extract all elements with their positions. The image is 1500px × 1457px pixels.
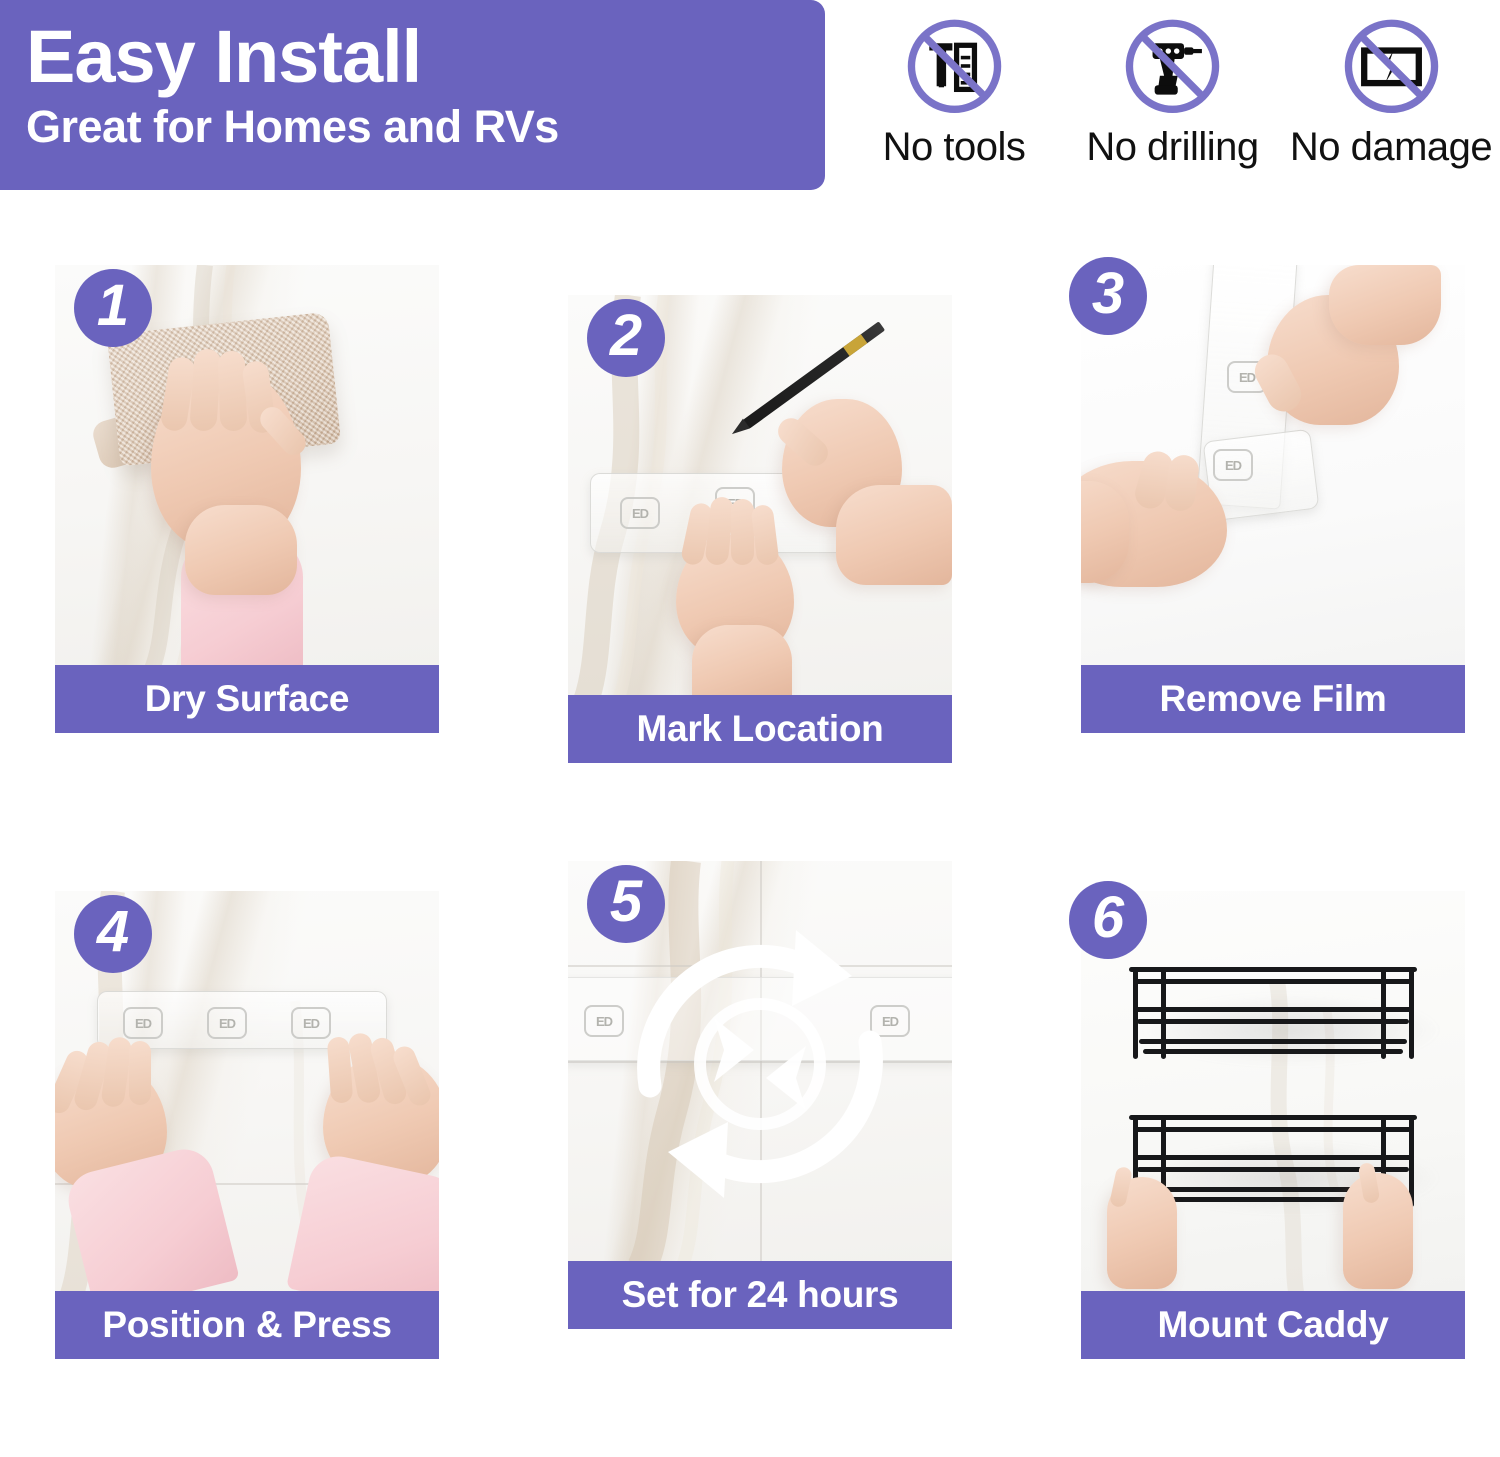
caddy-rail [1135, 1127, 1411, 1132]
finger [189, 348, 222, 432]
caddy-rail [1139, 1039, 1407, 1044]
finger [731, 499, 754, 565]
step-card-5: ED ED 5 Set for 2 [568, 861, 952, 1359]
caddy-shelf-upper [1129, 967, 1417, 1059]
feature-no-drilling: No drilling [1064, 18, 1282, 170]
feature-list: No tools No drilling [845, 18, 1500, 188]
finger [129, 1041, 151, 1105]
step-caption-2: Mark Location [568, 695, 952, 763]
step-caption-4: Position & Press [55, 1291, 439, 1359]
step-badge-4: 4 [74, 895, 152, 973]
step-badge-1: 1 [74, 269, 152, 347]
caddy-side-rail [1409, 967, 1414, 1059]
caddy-side-rail [1133, 967, 1138, 1059]
steps-row-bottom: ED ED ED 4 Position & Press [55, 861, 1445, 1359]
step-badge-2: 2 [587, 299, 665, 377]
page-title: Easy Install [26, 18, 825, 96]
step-card-6: 6 Mount Caddy [1081, 861, 1465, 1359]
step-caption-1: Dry Surface [55, 665, 439, 733]
forearm [836, 485, 952, 585]
step-caption-6: Mount Caddy [1081, 1291, 1465, 1359]
no-drilling-icon [1120, 18, 1225, 123]
header-banner: Easy Install Great for Homes and RVs [0, 0, 825, 190]
feature-no-damage: No damage [1282, 18, 1500, 170]
caddy-rail [1133, 1007, 1413, 1012]
steps-row-top: 1 Dry Surface ED ED ED [55, 265, 1445, 763]
page-subtitle: Great for Homes and RVs [26, 102, 825, 152]
strip-emboss: ED [620, 497, 660, 529]
step-card-1: 1 Dry Surface [55, 265, 439, 763]
feature-label: No tools [883, 125, 1026, 170]
caddy-rail [1129, 1115, 1417, 1120]
step-card-4: ED ED ED 4 Position & Press [55, 861, 439, 1359]
wrist [185, 505, 297, 595]
strip-emboss: ED [207, 1007, 247, 1039]
caddy-rail [1129, 967, 1417, 972]
step-photo-mount-caddy [1081, 891, 1465, 1297]
feature-label: No damage [1290, 125, 1492, 170]
caddy-rail [1137, 1019, 1409, 1024]
step-caption-5: Set for 24 hours [568, 1261, 952, 1329]
strip-emboss: ED [123, 1007, 163, 1039]
caddy-side-rail [1381, 967, 1386, 1059]
step-badge-6: 6 [1069, 881, 1147, 959]
feature-label: No drilling [1086, 125, 1258, 170]
step-badge-3: 3 [1069, 257, 1147, 335]
finger [218, 351, 248, 432]
no-tools-icon [902, 18, 1007, 123]
step-card-3: ED ED 3 Remove Film [1081, 265, 1465, 763]
strip-emboss: ED [291, 1007, 331, 1039]
rotating-arrows-icon [610, 914, 910, 1214]
caddy-rail [1133, 1155, 1413, 1160]
forearm [1329, 265, 1441, 345]
install-steps-grid: 1 Dry Surface ED ED ED [55, 265, 1445, 1457]
step-card-2: ED ED ED 2 Mark Location [568, 265, 952, 763]
step-caption-3: Remove Film [1081, 665, 1465, 733]
no-damage-icon [1339, 18, 1444, 123]
strip-emboss: ED [1213, 449, 1253, 481]
feature-no-tools: No tools [845, 18, 1063, 170]
step-badge-5: 5 [587, 865, 665, 943]
caddy-side-rail [1161, 967, 1166, 1059]
caddy-rail [1143, 1049, 1403, 1054]
step-photo-remove-film: ED ED [1081, 265, 1465, 671]
caddy-rail [1135, 979, 1411, 984]
wrist [692, 625, 792, 701]
